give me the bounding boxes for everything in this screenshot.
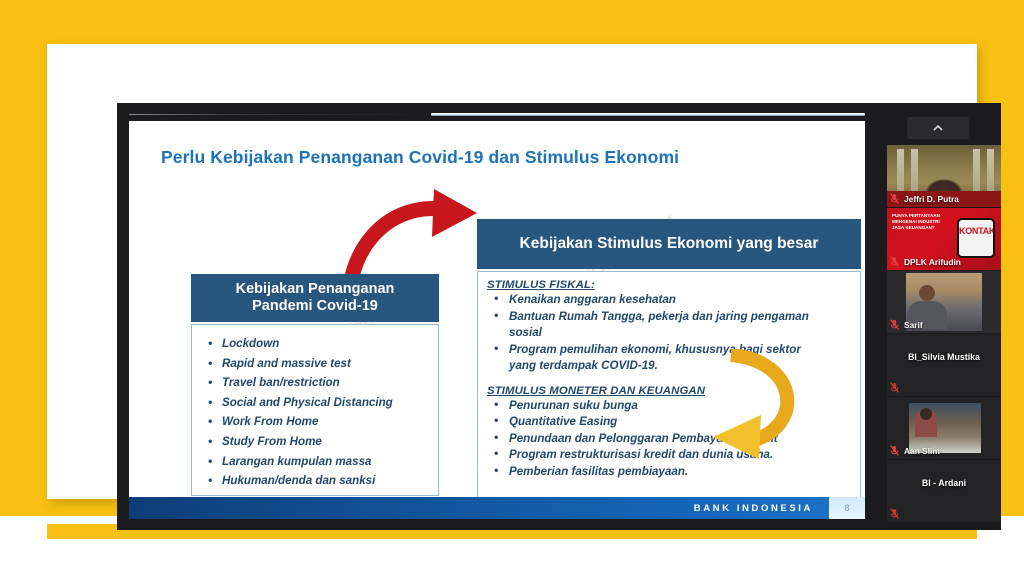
bank-indonesia-brand: BANK INDONESIA	[694, 503, 813, 514]
pandemic-policy-list: Lockdown Rapid and massive test Travel b…	[198, 335, 432, 491]
left-box-header-line2: Pandemi Covid-19	[252, 298, 378, 315]
participant-name: Aan Slim	[891, 446, 940, 456]
slide-page-number: 8	[829, 497, 865, 519]
left-box-header: Kebijakan Penanganan Pandemi Covid-19	[191, 274, 439, 322]
right-box-header-label: Kebijakan Stimulus Ekonomi yang besar	[520, 235, 819, 253]
chevron-up-icon	[932, 122, 944, 134]
participant-tile[interactable]: BI_Silvia Mustika	[887, 334, 1001, 396]
participant-name: BI_Silvia Mustika	[887, 352, 1001, 362]
toolbar-line-left	[129, 114, 429, 115]
participant-video-off	[887, 460, 1001, 522]
list-item: Pemberian fasilitas pembiayaan.	[487, 464, 851, 480]
list-item: Kenaikan anggaran kesehatan	[487, 292, 851, 308]
participant-filmstrip[interactable]: Jeffri D. Putra PUNYA PERTANYAAN MENGENA…	[877, 103, 1001, 530]
list-item: Travel ban/restriction	[198, 374, 432, 393]
yellow-curved-arrow	[695, 349, 815, 464]
participant-video-off	[887, 334, 1001, 396]
list-item: Bantuan Rumah Tangga, pekerja dan jaring…	[487, 309, 851, 325]
slide-footer-bar: BANK INDONESIA 8	[129, 497, 865, 519]
participant-tile[interactable]: Jeffri D. Putra	[887, 145, 1001, 207]
right-box-header: Kebijakan Stimulus Ekonomi yang besar	[477, 219, 861, 269]
participant-tile[interactable]: Sarif	[887, 271, 1001, 333]
list-item: Work From Home	[198, 413, 432, 432]
screen-share-border-highlight	[431, 113, 865, 116]
participant-name: Sarif	[891, 320, 923, 330]
zoom-meeting-window: Perlu Kebijakan Penanganan Covid-19 dan …	[117, 103, 1001, 530]
participant-tile[interactable]: PUNYA PERTANYAAN MENGENAI INDUSTRI JASA …	[887, 208, 1001, 270]
participant-name: BI - Ardani	[887, 478, 1001, 488]
shared-slide-headline: PUNYA PERTANYAAN MENGENAI INDUSTRI JASA …	[892, 213, 948, 231]
list-item: Hukuman/denda dan sanksi	[198, 472, 432, 491]
participant-name: Jeffri D. Putra	[891, 194, 959, 204]
mic-muted-icon	[890, 508, 899, 519]
participant-tile[interactable]: Aan Slim	[887, 397, 1001, 459]
presentation-card: Perlu Kebijakan Penanganan Covid-19 dan …	[47, 44, 977, 499]
slide-title: Perlu Kebijakan Penanganan Covid-19 dan …	[161, 147, 679, 168]
mic-muted-icon	[890, 382, 899, 393]
kontak-logo: KONTAK	[957, 218, 995, 258]
section-heading-fiscal: STIMULUS FISKAL:	[487, 279, 851, 291]
kontak-logo-text: KONTAK	[959, 226, 993, 236]
zoom-toolbar-hairline	[129, 113, 865, 116]
list-item: Larangan kumpulan massa	[198, 453, 432, 472]
list-item: Social and Physical Distancing	[198, 394, 432, 413]
list-item: Lockdown	[198, 335, 432, 354]
screenshot-root: Perlu Kebijakan Penanganan Covid-19 dan …	[0, 0, 1024, 576]
left-box-body: Lockdown Rapid and massive test Travel b…	[191, 324, 439, 496]
participant-tile[interactable]: BI - Ardani	[887, 460, 1001, 522]
presentation-slide: Perlu Kebijakan Penanganan Covid-19 dan …	[129, 121, 865, 519]
collapse-filmstrip-button[interactable]	[907, 117, 969, 139]
list-item: Rapid and massive test	[198, 355, 432, 374]
participant-tiles: Jeffri D. Putra PUNYA PERTANYAAN MENGENA…	[887, 145, 1001, 523]
participant-name: DPLK Arifudin	[891, 257, 961, 267]
list-item: Study From Home	[198, 433, 432, 452]
left-box-header-line1: Kebijakan Penanganan	[236, 281, 395, 298]
list-item-continuation: sosial	[487, 325, 851, 341]
screen-share-area: Perlu Kebijakan Penanganan Covid-19 dan …	[117, 103, 877, 530]
